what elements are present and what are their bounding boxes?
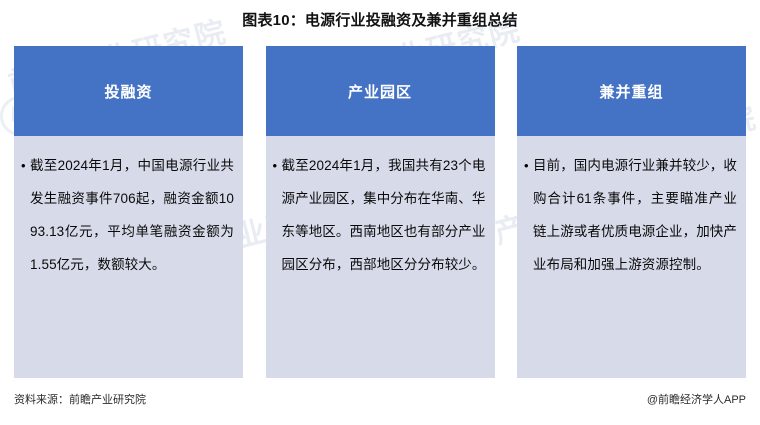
card-header-industrial-park: 产业园区 (266, 46, 495, 136)
bullet-row: • 截至2024年1月，中国电源行业共发生融资事件706起，融资金额1093.1… (21, 149, 234, 281)
summary-card-industrial-park: 产业园区 • 截至2024年1月，我国共有23个电源产业园区，集中分布在华南、华… (266, 46, 495, 378)
brand-attribution: @前瞻经济学人APP (647, 391, 746, 407)
card-header-mergers: 兼并重组 (517, 46, 746, 136)
source-note: 资料来源：前瞻产业研究院 (14, 391, 146, 407)
card-body-text: 目前，国内电源行业兼并较少，收购合计61条事件，主要瞄准产业链上游或者优质电源企… (533, 149, 737, 281)
summary-cards-row: 投融资 • 截至2024年1月，中国电源行业共发生融资事件706起，融资金额10… (14, 46, 746, 378)
page-title: 图表10：电源行业投融资及兼并重组总结 (0, 9, 760, 30)
card-header-label: 产业园区 (348, 81, 412, 102)
summary-card-mergers: 兼并重组 • 目前，国内电源行业兼并较少，收购合计61条事件，主要瞄准产业链上游… (517, 46, 746, 378)
bullet-icon: • (524, 149, 533, 182)
bullet-icon: • (273, 149, 282, 182)
card-body-text: 截至2024年1月，中国电源行业共发生融资事件706起，融资金额1093.13亿… (30, 149, 234, 281)
card-header-label: 兼并重组 (599, 81, 663, 102)
card-body-mergers: • 目前，国内电源行业兼并较少，收购合计61条事件，主要瞄准产业链上游或者优质电… (517, 136, 746, 378)
bullet-icon: • (21, 149, 30, 182)
figure-root: 前瞻产业研究院 中国产业咨询领导者·8395950 前瞻产业研究院 中国产业咨询… (0, 0, 760, 425)
card-body-industrial-park: • 截至2024年1月，我国共有23个电源产业园区，集中分布在华南、华东等地区。… (266, 136, 495, 378)
bullet-row: • 截至2024年1月，我国共有23个电源产业园区，集中分布在华南、华东等地区。… (273, 149, 486, 281)
card-body-investment: • 截至2024年1月，中国电源行业共发生融资事件706起，融资金额1093.1… (14, 136, 243, 378)
card-body-text: 截至2024年1月，我国共有23个电源产业园区，集中分布在华南、华东等地区。西南… (282, 149, 486, 281)
bullet-row: • 目前，国内电源行业兼并较少，收购合计61条事件，主要瞄准产业链上游或者优质电… (524, 149, 737, 281)
summary-card-investment: 投融资 • 截至2024年1月，中国电源行业共发生融资事件706起，融资金额10… (14, 46, 243, 378)
card-header-label: 投融资 (104, 81, 152, 102)
card-header-investment: 投融资 (14, 46, 243, 136)
